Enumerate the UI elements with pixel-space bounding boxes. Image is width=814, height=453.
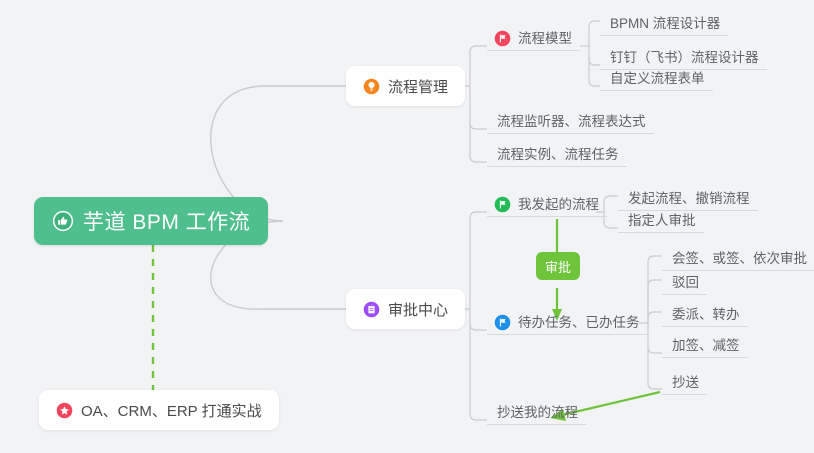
lightbulb-icon — [363, 78, 380, 95]
branch-label: 流程管理 — [388, 76, 448, 97]
node-label: 指定人审批 — [628, 209, 696, 229]
node-carbon-copy[interactable]: 抄送 — [662, 368, 707, 395]
node-label: 待办任务、已办任务 — [518, 311, 640, 331]
node-label: 钉钉（飞书）流程设计器 — [610, 46, 759, 66]
node-my-initiated-process[interactable]: 我发起的流程 — [487, 190, 607, 217]
node-label: 我发起的流程 — [518, 193, 599, 213]
node-label: 流程监听器、流程表达式 — [497, 110, 646, 130]
approval-flow-tag: 审批 — [536, 252, 580, 280]
bottom-note-card[interactable]: OA、CRM、ERP 打通实战 — [39, 390, 279, 430]
root-node[interactable]: 芋道 BPM 工作流 — [34, 197, 268, 245]
star-icon — [56, 402, 73, 419]
node-custom-process-form[interactable]: 自定义流程表单 — [600, 64, 713, 91]
flag-icon — [494, 196, 511, 213]
node-label: 流程实例、流程任务 — [497, 143, 619, 163]
node-label: 发起流程、撤销流程 — [628, 187, 750, 207]
node-reject[interactable]: 驳回 — [662, 268, 707, 295]
node-add-remove-sign[interactable]: 加签、减签 — [662, 331, 748, 358]
node-label: 委派、转办 — [672, 303, 740, 323]
node-label: 抄送我的流程 — [497, 401, 578, 421]
node-process-model[interactable]: 流程模型 — [487, 24, 580, 51]
root-label: 芋道 BPM 工作流 — [83, 206, 250, 236]
node-label: 会签、或签、依次审批 — [672, 247, 807, 267]
node-label: 流程模型 — [518, 27, 572, 47]
node-label: 加签、减签 — [672, 334, 740, 354]
node-countersign-orsign-sequential[interactable]: 会签、或签、依次审批 — [662, 244, 814, 271]
thumbs-up-icon — [52, 210, 74, 232]
node-label: BPMN 流程设计器 — [610, 12, 720, 32]
node-delegate-transfer[interactable]: 委派、转办 — [662, 300, 748, 327]
clipboard-icon — [363, 301, 380, 318]
branch-process-management[interactable]: 流程管理 — [346, 66, 465, 106]
branch-approval-center[interactable]: 审批中心 — [346, 289, 465, 329]
node-process-instance-task[interactable]: 流程实例、流程任务 — [487, 140, 627, 167]
mindmap-canvas: 芋道 BPM 工作流 流程管理 流程模型 BPMN 流程设计器 钉钉（飞书）流程… — [0, 0, 814, 453]
node-bpmn-designer[interactable]: BPMN 流程设计器 — [600, 9, 728, 36]
bottom-note-label: OA、CRM、ERP 打通实战 — [81, 400, 262, 421]
node-designated-approver[interactable]: 指定人审批 — [618, 206, 704, 233]
branch-label: 审批中心 — [388, 299, 448, 320]
approval-tag-label: 审批 — [545, 257, 571, 276]
node-todo-done-tasks[interactable]: 待办任务、已办任务 — [487, 308, 648, 335]
flag-icon — [494, 30, 511, 47]
node-label: 自定义流程表单 — [610, 67, 705, 87]
node-label: 抄送 — [672, 371, 699, 391]
node-label: 驳回 — [672, 271, 699, 291]
node-cc-to-me-process[interactable]: 抄送我的流程 — [487, 398, 586, 425]
node-process-listener-expression[interactable]: 流程监听器、流程表达式 — [487, 107, 654, 134]
flag-icon — [494, 314, 511, 331]
